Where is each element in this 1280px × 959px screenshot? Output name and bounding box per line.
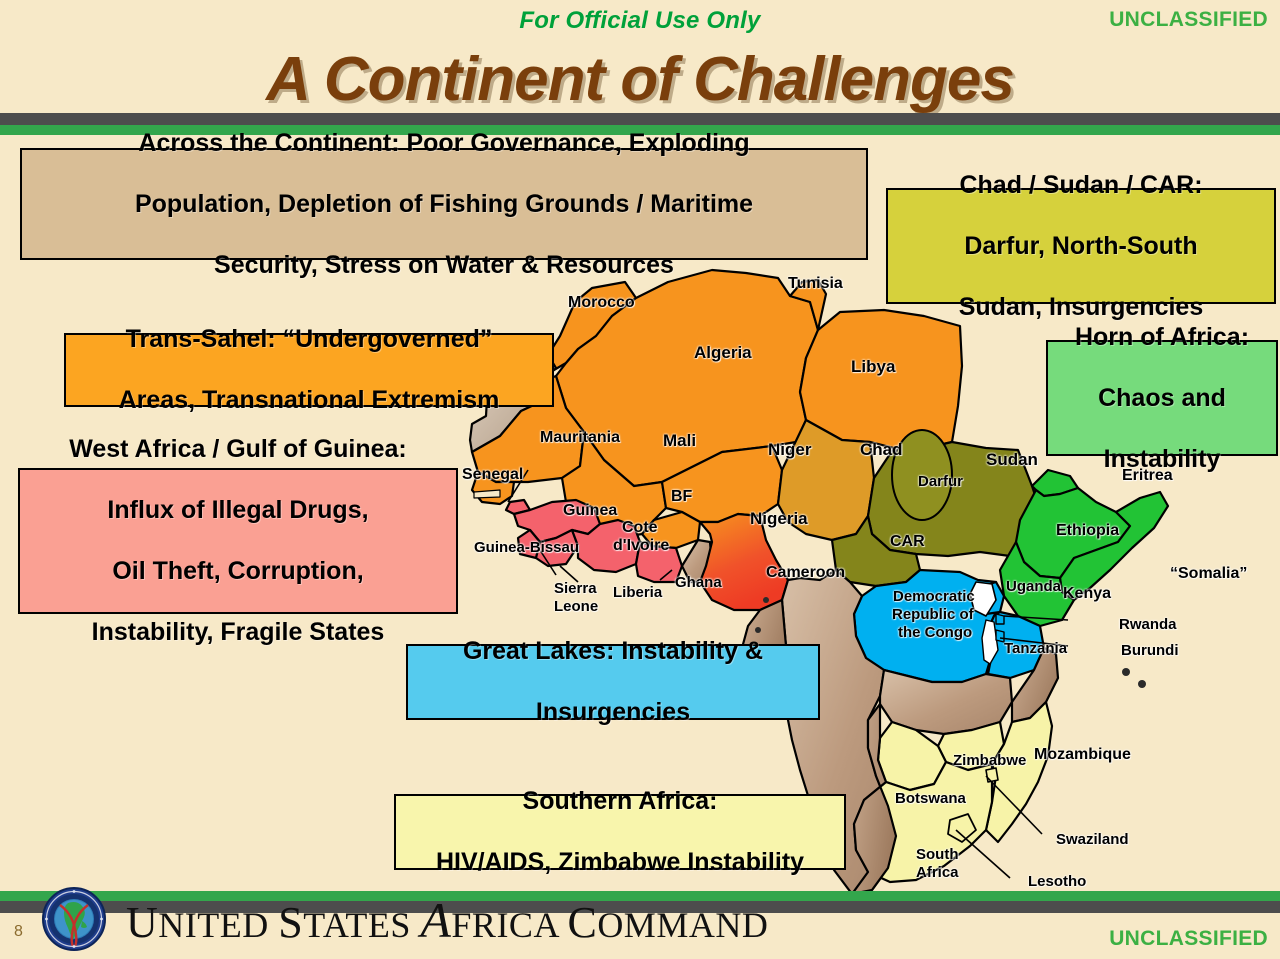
footer-word-command-cap: C [567,898,597,947]
map-label-rwanda: Rwanda [1119,617,1177,633]
callout-line: Across the Continent: Poor Governance, E… [22,128,866,159]
map-label-mauritania: Mauritania [540,430,620,447]
callout-line: Great Lakes: Instability & [408,636,818,667]
callout-trans-sahel: Trans-Sahel: “Undergoverned” Areas, Tran… [64,333,554,407]
map-label-cameroon: Cameroon [766,565,845,582]
callout-line: Instability, Fragile States [20,617,456,648]
map-label-tanzania: Tanzania [1004,641,1067,657]
footer-word-states-cap: S [278,898,303,947]
callout-line: Chad / Sudan / CAR: [888,170,1274,201]
map-label-guinea-bissau: Guinea-Bissau [474,540,579,556]
footer-org-title: UNITED STATES AFRICA COMMAND [126,891,768,949]
callout-line: Trans-Sahel: “Undergoverned” [66,324,552,355]
footer-word-united: NITED [158,905,268,945]
map-label-ghana: Ghana [675,575,722,591]
footer-word-states: TATES [303,905,411,945]
map-label-uganda: Uganda [1006,579,1061,595]
map-label-mozambique: Mozambique [1034,747,1131,764]
map-label-drc-2: Republic of [892,607,974,623]
footer-word-command: OMMAND [597,905,768,945]
map-label-morocco: Morocco [568,295,635,312]
callout-west-africa-gulf-of-guinea: West Africa / Gulf of Guinea: Influx of … [18,468,458,614]
map-label-sudan: Sudan [986,451,1038,469]
map-label-sierra-leone-1: Sierra [554,581,597,597]
map-label-burkina-faso: BF [671,489,692,506]
callout-line: West Africa / Gulf of Guinea: [20,434,456,465]
map-label-senegal: Senegal [462,467,523,484]
map-label-mali: Mali [663,432,696,450]
map-label-somalia: “Somalia” [1170,566,1247,583]
map-label-darfur: Darfur [918,474,963,490]
map-label-liberia: Liberia [613,585,662,601]
map-label-south-africa-1: South [916,847,959,863]
map-label-chad: Chad [860,441,903,459]
callout-line: Population, Depletion of Fishing Grounds… [22,189,866,220]
map-label-sierra-leone-2: Leone [554,599,598,615]
callout-line: Oil Theft, Corruption, [20,556,456,587]
map-label-guinea: Guinea [563,503,617,520]
map-label-cote-divoire-2: d'Ivoire [613,538,669,555]
callout-line: Chaos and [1048,383,1276,414]
map-label-zimbabwe: Zimbabwe [953,753,1026,769]
callout-line: Areas, Transnational Extremism [66,385,552,416]
callout-chad-sudan-car: Chad / Sudan / CAR: Darfur, North-South … [886,188,1276,304]
callout-great-lakes: Great Lakes: Instability & Insurgencies [406,644,820,720]
map-label-botswana: Botswana [895,791,966,807]
classification-bottom: UNCLASSIFIED [1109,927,1268,951]
callout-across-the-continent: Across the Continent: Poor Governance, E… [20,148,868,260]
map-label-drc-1: Democratic [893,589,975,605]
footer-word-africa: FRICA [451,905,558,945]
map-label-algeria: Algeria [694,344,752,362]
map-label-car: CAR [890,534,925,551]
callout-line: Influx of Illegal Drugs, [20,495,456,526]
footer-word-united-cap: U [126,898,158,947]
page-title: A Continent of Challenges [0,44,1280,115]
map-label-south-africa-2: Africa [916,865,959,881]
map-label-burundi: Burundi [1121,643,1179,659]
map-label-ethiopia: Ethiopia [1056,523,1119,540]
callout-line: Security, Stress on Water & Resources [22,250,866,281]
callout-line: Sudan, Insurgencies [888,292,1274,323]
fouo-banner: For Official Use Only [0,7,1280,35]
map-label-cote-divoire-1: Cote [622,520,658,537]
map-label-swaziland: Swaziland [1056,832,1129,848]
callout-southern-africa: Southern Africa: HIV/AIDS, Zimbabwe Inst… [394,794,846,870]
usafricom-seal-icon [42,887,106,951]
callout-horn-of-africa: Horn of Africa: Chaos and Instability [1046,340,1278,456]
classification-top: UNCLASSIFIED [1109,8,1268,32]
callout-line: HIV/AIDS, Zimbabwe Instability [396,847,844,878]
map-label-lesotho: Lesotho [1028,874,1086,890]
map-label-niger: Niger [768,441,811,459]
map-label-kenya: Kenya [1063,586,1111,603]
callout-line: Insurgencies [408,697,818,728]
slide-canvas: For Official Use Only UNCLASSIFIED A Con… [0,0,1280,959]
callout-line: Instability [1048,444,1276,475]
page-number: 8 [14,923,23,941]
header-rule-dark [0,113,1280,125]
map-label-nigeria: Nigeria [750,510,808,528]
callout-line: Horn of Africa: [1048,322,1276,353]
callout-line: Southern Africa: [396,786,844,817]
map-label-drc-3: the Congo [898,625,972,641]
footer-word-africa-cap: A [420,892,451,948]
map-label-libya: Libya [851,358,895,376]
callout-line: Darfur, North-South [888,231,1274,262]
